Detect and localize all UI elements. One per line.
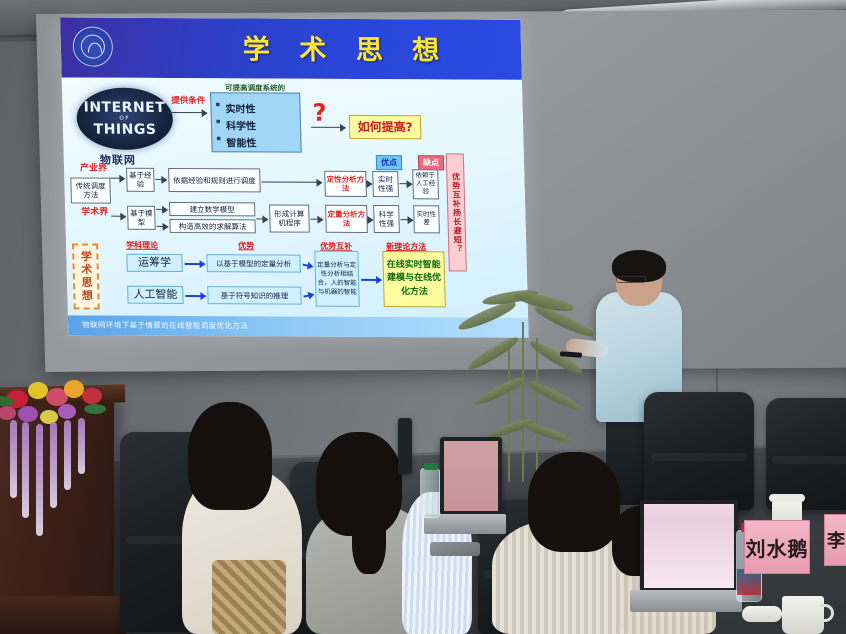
audience-2-ponytail <box>352 500 386 574</box>
slide-title: 学 术 思 想 <box>180 27 511 68</box>
based-model-box: 基于模型 <box>127 206 156 230</box>
condition-item-1: 科学性 <box>226 117 256 132</box>
condition-item-0: 实时性 <box>225 100 255 115</box>
handbag <box>212 560 286 634</box>
hanging-vine <box>64 420 71 490</box>
iot-line2: THINGS <box>93 123 156 137</box>
arrow-trad-exp <box>110 178 124 179</box>
audience-4-hair <box>528 452 620 552</box>
hanging-vine <box>36 424 43 536</box>
arrow-qual-pro <box>367 183 372 184</box>
industry-label: 产业界 <box>80 163 107 174</box>
arrow-quant-pro <box>367 219 372 220</box>
pro-1-box: 实时性强 <box>372 171 399 197</box>
internet-of-things-logo: INTERNET OF THINGS <box>76 88 174 150</box>
artificial-intelligence-box: 人工智能 <box>127 286 183 304</box>
plant-stem <box>536 338 538 482</box>
smartphone <box>430 542 480 556</box>
experience-detail-box: 依据经验和规则进行调度 <box>168 168 261 192</box>
condition-header: 可提高调度系统的 <box>211 82 299 93</box>
laptop-lid <box>398 418 412 474</box>
qualitative-method-box: 定性分析方法 <box>324 171 367 197</box>
flower-petal <box>64 380 84 398</box>
saucer <box>742 606 782 622</box>
arrow-model-detail-2 <box>157 226 168 227</box>
vertical-summary-box: 优势互补扬长避短？ <box>446 153 467 271</box>
plant-leaf <box>465 334 521 373</box>
laptop-screen <box>444 441 498 511</box>
con-1-box: 依赖于人工经验 <box>412 169 439 199</box>
projection-screen: 学 术 思 想 INTERNET OF THINGS 物联网 提供条件 可提高调… <box>36 10 846 382</box>
cup-white <box>782 596 824 634</box>
arrow-to-howimprove <box>311 127 345 129</box>
arrow-to-quantitative <box>310 219 322 220</box>
cup-lid <box>769 494 805 502</box>
model-detail-1-box: 建立数学模型 <box>169 202 255 216</box>
hanging-vine <box>50 422 57 508</box>
arrow-adv1-complement <box>303 264 313 268</box>
slide-title-band: 学 术 思 想 <box>60 17 522 79</box>
hanging-vine <box>10 420 17 498</box>
arrow-pro-con-1 <box>400 183 412 184</box>
cons-tag: 缺点 <box>418 155 444 170</box>
traditional-method-box: 传统调度方法 <box>70 177 111 203</box>
flower-leaf <box>84 404 106 414</box>
bottle-cap <box>424 463 438 470</box>
arrow-ai-adv <box>185 295 205 297</box>
hanging-vine <box>78 418 85 474</box>
flower-petal <box>28 382 48 399</box>
pro-2-box: 科学性强 <box>373 205 400 233</box>
arrow-model-detail-1 <box>156 209 167 210</box>
podium-base <box>0 596 126 634</box>
new-theory-box: 在线实时智能建模与在线优化方法 <box>382 251 445 307</box>
plant-stem <box>522 322 524 482</box>
hanging-vine <box>22 422 29 518</box>
glasses-icon <box>616 276 646 283</box>
plant-stem <box>508 342 510 482</box>
provides-condition-label: 提供条件 <box>166 96 210 107</box>
arrow-pro-con-2 <box>400 219 412 220</box>
how-to-improve-box: 如何提高? <box>349 115 422 139</box>
computer-program-box: 形成计算机程序 <box>269 204 310 232</box>
placard-name-text: 刘水鹅 <box>746 533 809 562</box>
chair-empty-right <box>644 392 754 510</box>
academia-label: 学术界 <box>81 207 108 218</box>
flower-petal <box>18 406 38 422</box>
laptop-screen <box>644 504 734 588</box>
arrow-trad-model <box>111 216 125 217</box>
conference-room-scene: 学 术 思 想 INTERNET OF THINGS 物联网 提供条件 可提高调… <box>0 0 846 634</box>
plant-leaf <box>473 374 528 408</box>
university-logo-icon <box>72 27 113 67</box>
operations-research-box: 运筹学 <box>126 254 182 272</box>
question-mark-icon: ? <box>312 99 327 127</box>
arrow-to-qualitative <box>261 181 321 183</box>
arrow-to-program <box>256 218 267 219</box>
flower-petal <box>0 406 16 420</box>
quantitative-method-box: 定量分析方法 <box>325 205 368 233</box>
advantage-2-box: 基于符号知识的推理 <box>207 286 302 304</box>
arrow-complement-newtheory <box>361 279 381 281</box>
flower-petal <box>58 404 76 419</box>
arrow-provides <box>169 112 207 114</box>
laptop-keyboard <box>630 590 742 612</box>
pros-tag: 优点 <box>376 155 402 170</box>
iot-line1: INTERNET <box>83 100 165 114</box>
model-detail-2-box: 构造高效的求解算法 <box>169 219 255 233</box>
arrow-exp-detail <box>155 179 166 180</box>
placard-name-text-2: 李 <box>827 527 845 553</box>
condition-item-2: 智能性 <box>226 134 256 149</box>
audience-1-hair <box>188 402 272 510</box>
name-placard-1: 刘水鹅 <box>744 520 810 574</box>
academic-idea-box: 学术思想 <box>72 243 100 309</box>
plant-leaf <box>522 420 572 446</box>
flower-petal <box>82 388 102 404</box>
advantage-1-box: 以基于模型的定量分析 <box>206 254 301 272</box>
col-advantage-header: 优势 <box>238 240 254 251</box>
condition-group: 可提高调度系统的 实时性 科学性 智能性 <box>210 92 302 152</box>
complement-box: 定量分析与定性分析相结合，人的智能与机器的智能 <box>314 251 359 307</box>
based-experience-box: 基于经验 <box>126 168 155 192</box>
plant-leaf <box>525 377 581 413</box>
con-2-box: 实时性差 <box>413 205 440 233</box>
col-discipline-header: 学科理论 <box>126 240 158 251</box>
arrow-or-adv <box>185 263 205 265</box>
arrow-adv2-complement <box>303 294 313 298</box>
name-placard-2: 李 <box>824 514 846 566</box>
water-bottle-center <box>420 468 440 518</box>
